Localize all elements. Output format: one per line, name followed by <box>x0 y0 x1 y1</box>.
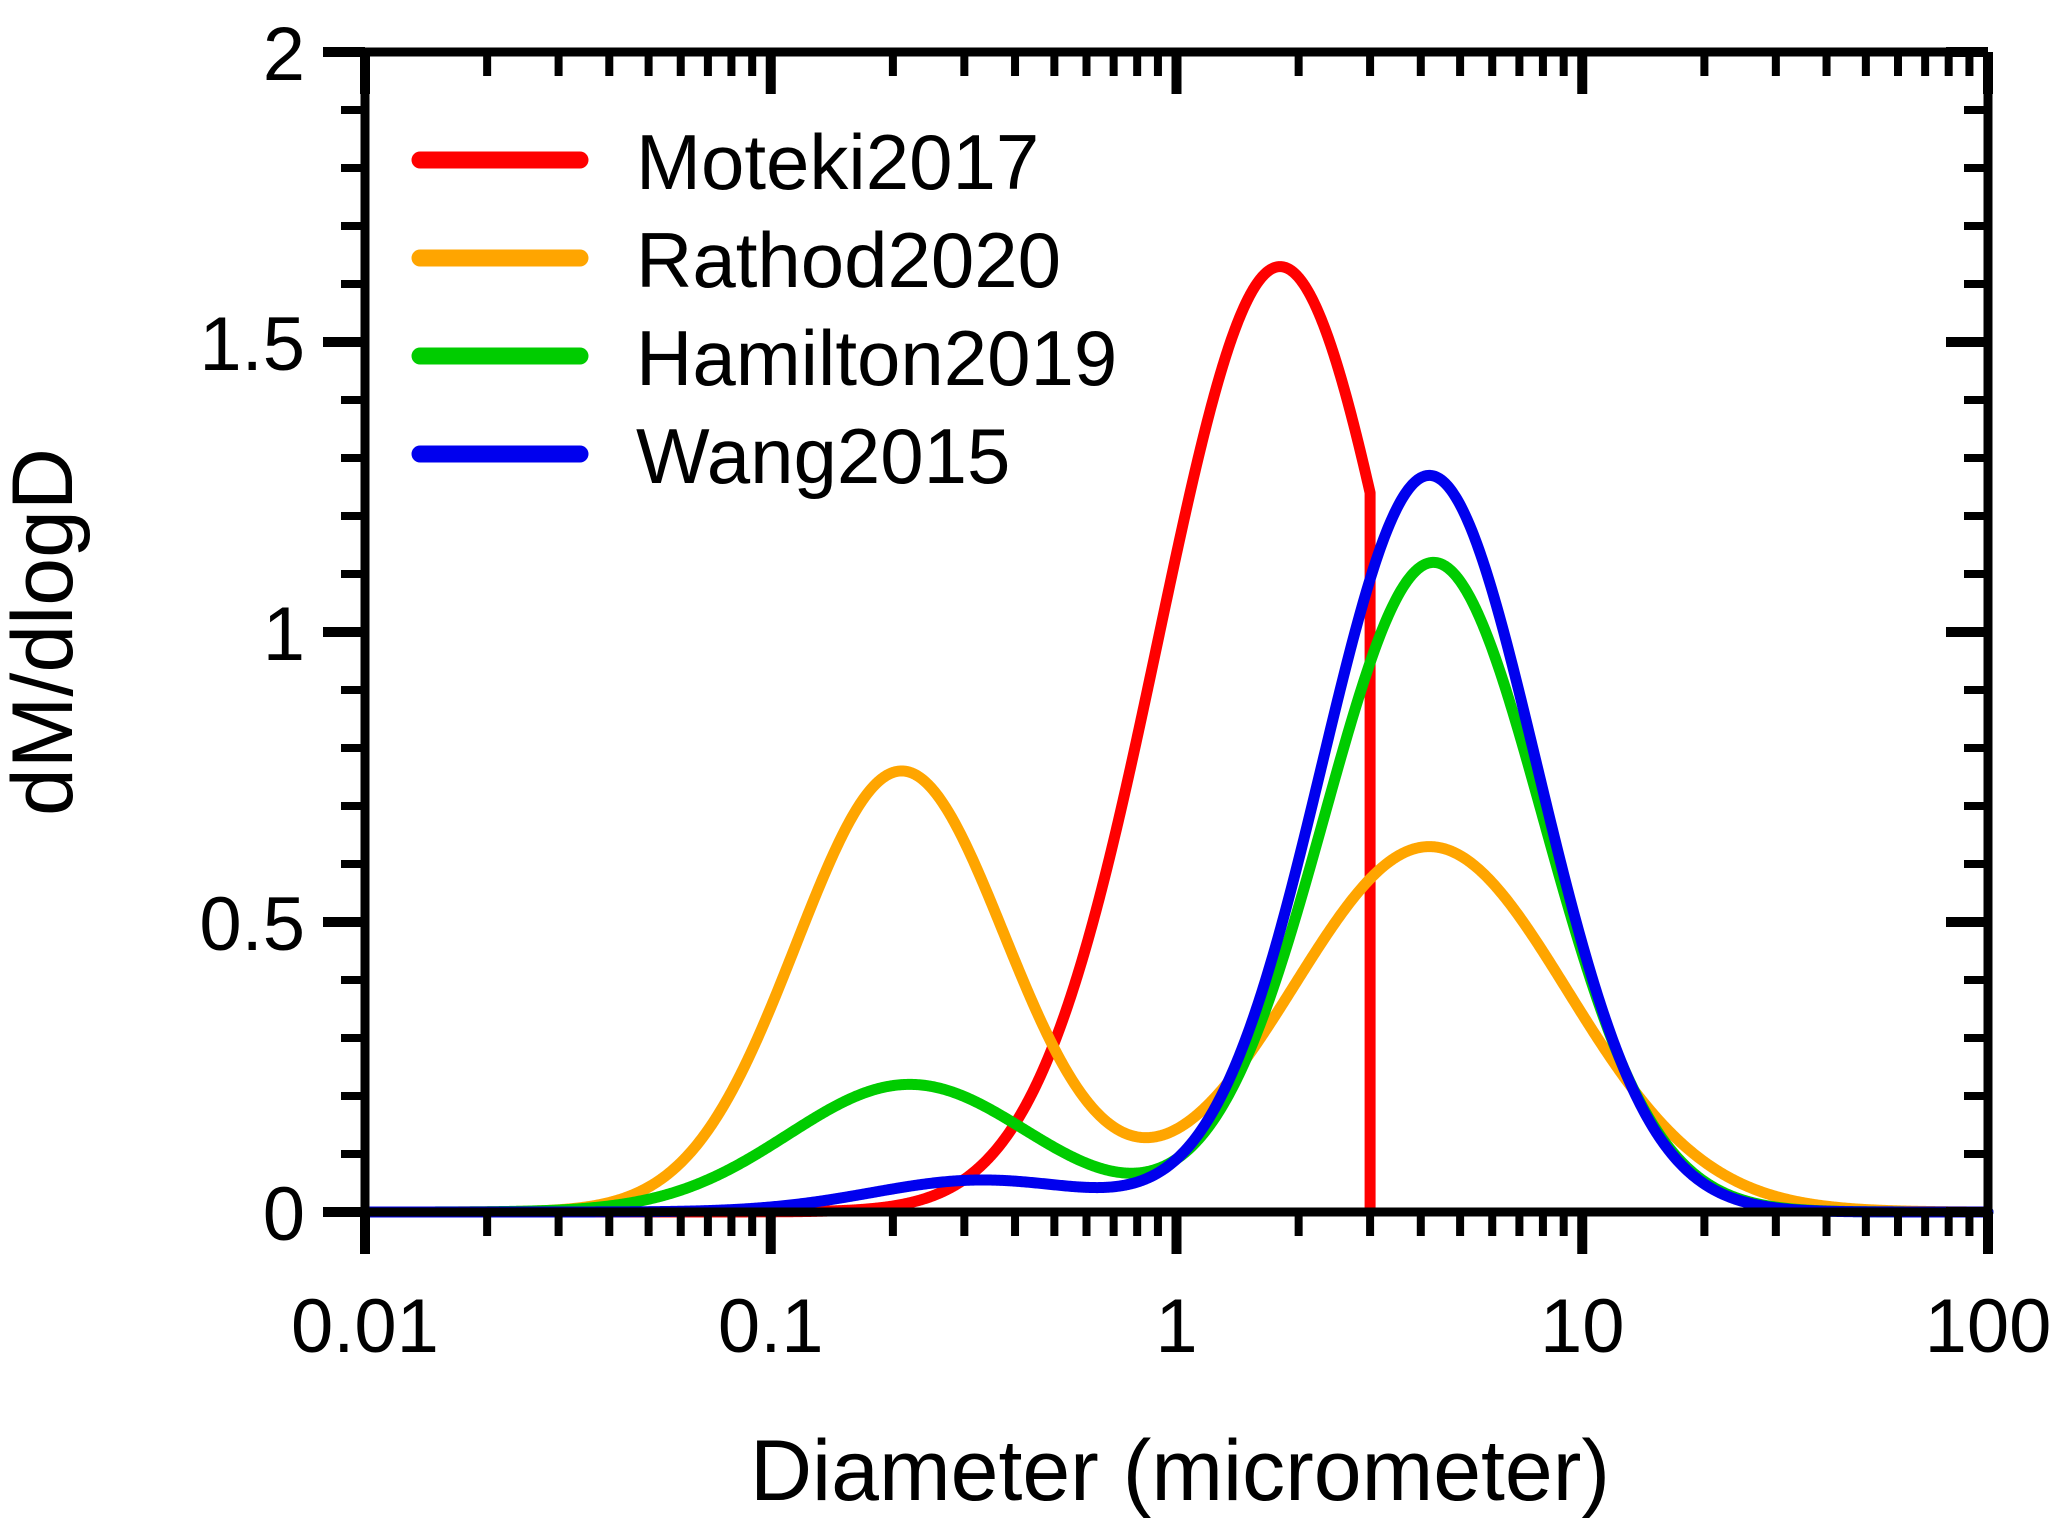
data-series-line <box>365 562 1988 1212</box>
legend-label: Rathod2020 <box>636 216 1061 304</box>
y-tick-label: 0 <box>263 1172 305 1257</box>
data-series-line <box>365 267 1370 1212</box>
data-curves <box>365 267 1988 1212</box>
x-tick-label: 0.1 <box>718 1284 824 1369</box>
chart-legend: Moteki2017Rathod2020Hamilton2019Wang2015 <box>420 118 1117 500</box>
x-tick-label: 100 <box>1925 1284 2052 1369</box>
y-tick-labels: 21.510.50 <box>199 12 305 1257</box>
data-series-line <box>365 771 1988 1212</box>
y-tick-label: 0.5 <box>199 882 305 967</box>
x-tick-label: 1 <box>1155 1284 1197 1369</box>
x-tick-labels: 0.010.1110100 <box>291 1284 2051 1369</box>
x-tick-label: 0.01 <box>291 1284 439 1369</box>
legend-label: Moteki2017 <box>636 118 1039 206</box>
plot-canvas: 0.010.1110100 21.510.50 Moteki2017Rathod… <box>0 0 2067 1533</box>
x-tick-label: 10 <box>1540 1284 1625 1369</box>
chart-figure: 0.010.1110100 21.510.50 Moteki2017Rathod… <box>0 0 2067 1533</box>
y-tick-label: 1 <box>263 592 305 677</box>
y-axis-title: dM/dlogD <box>0 448 91 816</box>
axes-frame <box>365 52 1988 1212</box>
legend-label: Hamilton2019 <box>636 314 1117 402</box>
data-series-line <box>365 475 1988 1212</box>
legend-label: Wang2015 <box>636 412 1010 500</box>
x-axis-title: Diameter (micrometer) <box>750 1423 1610 1519</box>
y-tick-label: 1.5 <box>199 302 305 387</box>
y-tick-label: 2 <box>263 12 305 97</box>
